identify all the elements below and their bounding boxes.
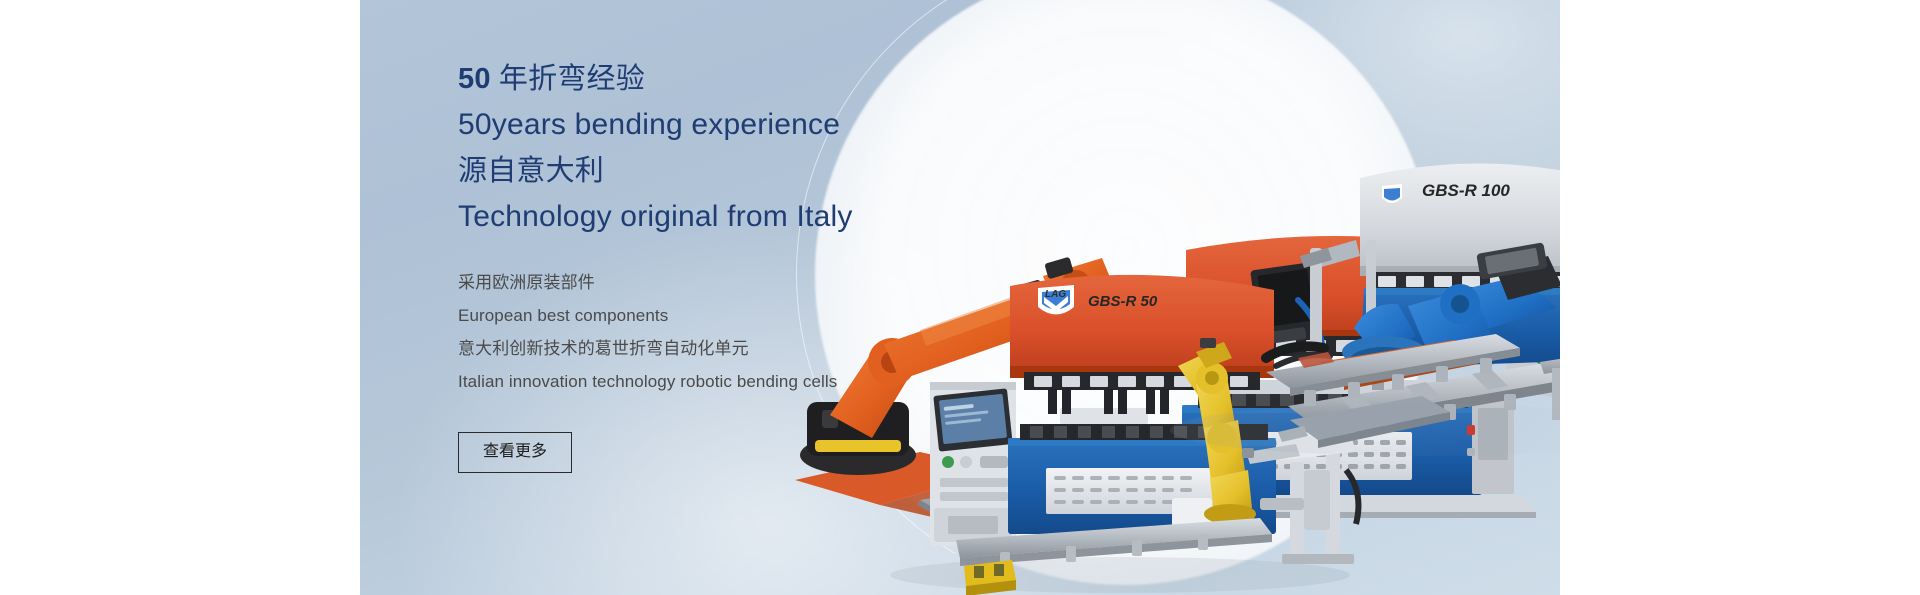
page-root: LAG bbox=[0, 0, 1920, 595]
hero-banner: LAG bbox=[360, 0, 1560, 595]
machine-model-label-100: GBS-R 100 bbox=[1422, 181, 1510, 200]
view-more-button[interactable]: 查看更多 bbox=[458, 432, 572, 473]
subtext-line-2: European best components bbox=[458, 299, 1018, 332]
headline-line-4: Technology original from Italy bbox=[458, 194, 1018, 240]
headline-line-1-rest: 年折弯经验 bbox=[491, 63, 645, 95]
subtext-line-3: 意大利创新技术的葛世折弯自动化单元 bbox=[458, 332, 1018, 365]
svg-text:LAG: LAG bbox=[1045, 289, 1066, 300]
subtext-line-1: 采用欧洲原装部件 bbox=[458, 266, 1018, 299]
machine-model-label-50: GBS-R 50 bbox=[1088, 293, 1158, 310]
banner-subtext: 采用欧洲原装部件 European best components 意大利创新技… bbox=[458, 266, 1018, 398]
headline-line-3: 源自意大利 bbox=[458, 148, 1018, 194]
headline-line-1: 50 年折弯经验 bbox=[458, 56, 1018, 102]
subtext-line-4: Italian innovation technology robotic be… bbox=[458, 365, 1018, 398]
headline-years-number: 50 bbox=[458, 63, 491, 95]
banner-copy: 50 年折弯经验 50years bending experience 源自意大… bbox=[458, 56, 1018, 473]
headline-line-2: 50years bending experience bbox=[458, 102, 1018, 148]
